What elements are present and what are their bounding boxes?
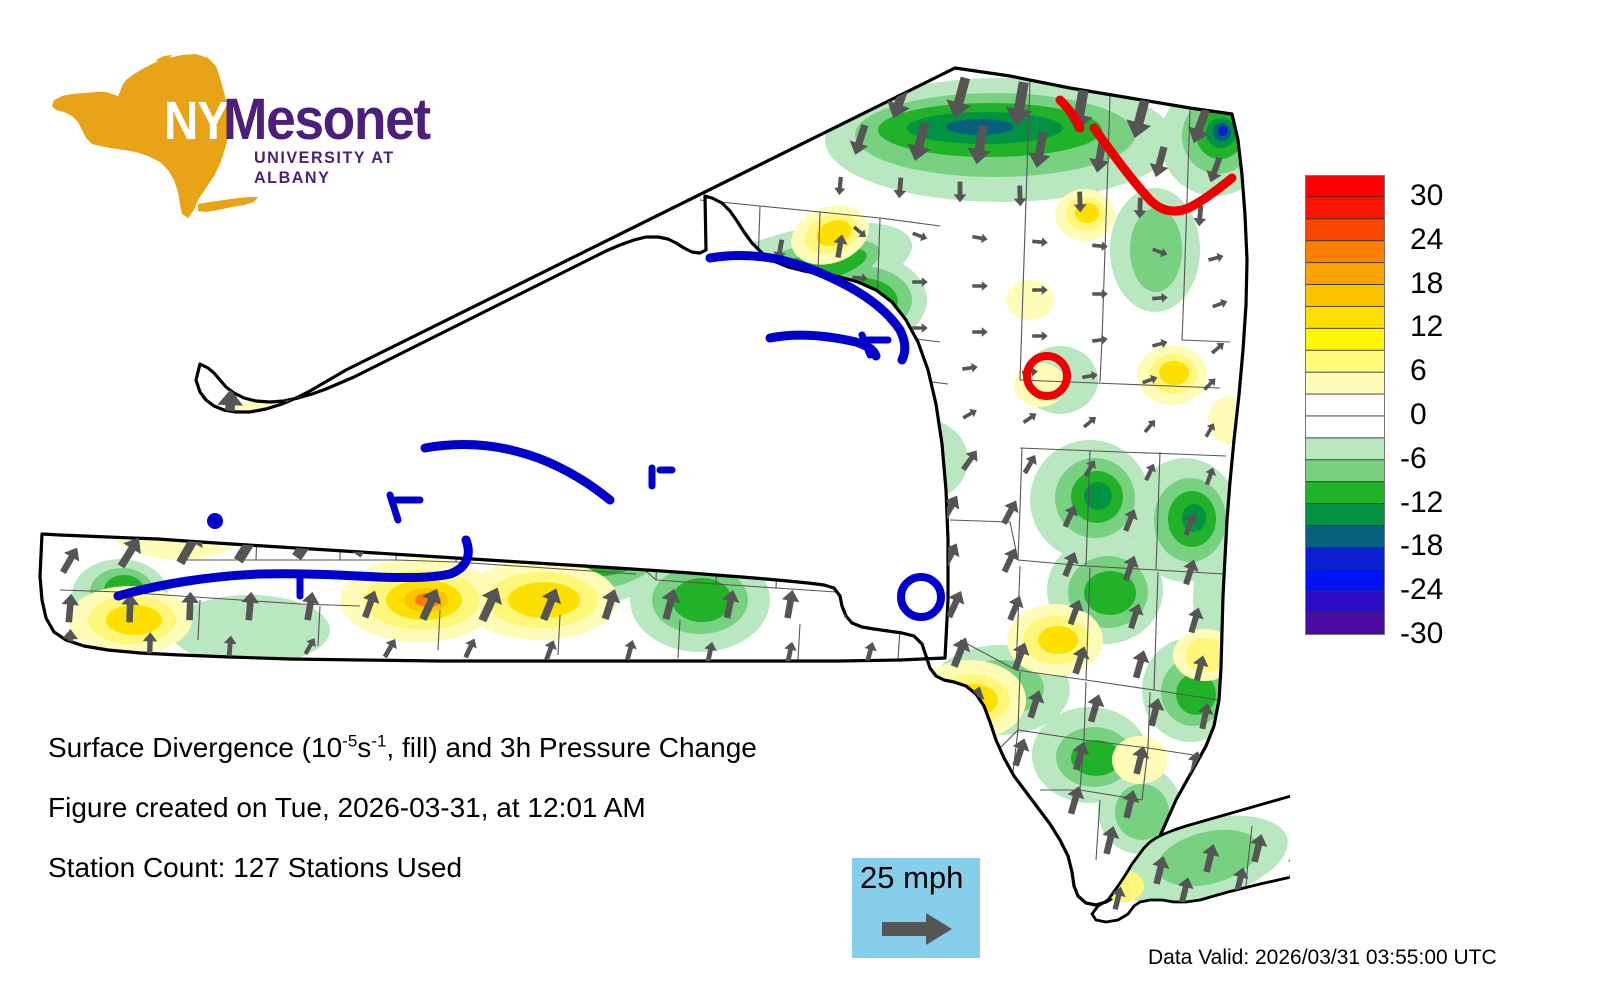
colorbar-band [1305, 394, 1385, 417]
caption-title-mid: s [357, 732, 371, 763]
trough-tick-midnorth [652, 468, 672, 486]
colorbar-tick-label: -18 [1400, 531, 1443, 561]
colorbar-tick-label: 18 [1410, 269, 1443, 299]
colorbar-band [1305, 328, 1385, 351]
colorbar-tick-label: -12 [1400, 488, 1443, 518]
colorbar-band [1305, 569, 1385, 592]
colorbar-band [1305, 613, 1385, 635]
colorbar-tick-label: 12 [1410, 312, 1443, 342]
caption-title-prefix: Surface Divergence (10 [48, 732, 342, 763]
colorbar-tick-label: 6 [1410, 356, 1427, 386]
data-valid-timestamp: Data Valid: 2026/03/31 03:55:00 UTC [1148, 946, 1497, 970]
low-center-dot [207, 513, 223, 529]
colorbar-band [1305, 547, 1385, 570]
colorbar-tick-label: 24 [1410, 225, 1443, 255]
colorbar-band [1305, 482, 1385, 505]
colorbar-band [1305, 241, 1385, 264]
colorbar [1305, 175, 1385, 635]
colorbar-tick-label: -30 [1400, 619, 1443, 649]
colorbar-tick-label: 0 [1410, 400, 1427, 430]
colorbar-band [1305, 219, 1385, 242]
colorbar-band [1305, 591, 1385, 614]
wind-legend-arrow-icon [882, 912, 954, 946]
colorbar-band [1305, 438, 1385, 461]
colorbar-band [1305, 306, 1385, 329]
colorbar-band [1305, 197, 1385, 220]
caption-exp-1: -5 [342, 732, 357, 751]
colorbar-band [1305, 525, 1385, 548]
caption-title-suffix: , fill) and 3h Pressure Change [386, 732, 756, 763]
colorbar-band [1305, 460, 1385, 483]
colorbar-band [1305, 285, 1385, 308]
caption-station-count: Station Count: 127 Stations Used [48, 838, 948, 898]
colorbar-band [1305, 504, 1385, 527]
colorbar-band [1305, 175, 1385, 198]
caption-created: Figure created on Tue, 2026-03-31, at 12… [48, 778, 948, 838]
colorbar-band [1305, 372, 1385, 395]
colorbar-tick-label: -24 [1400, 575, 1443, 605]
trough-barb-west [390, 495, 420, 520]
colorbar-labels: 3024181260-6-12-18-24-30 [1400, 160, 1520, 650]
colorbar-tick-label: -6 [1400, 444, 1427, 474]
colorbar-tick-label: 30 [1410, 181, 1443, 211]
wind-speed-legend: 25 mph [852, 858, 980, 958]
colorbar-band [1305, 263, 1385, 286]
wind-legend-label: 25 mph [860, 860, 963, 896]
colorbar-band [1305, 416, 1385, 439]
caption-block: Surface Divergence (10-5s-1, fill) and 3… [48, 718, 948, 898]
caption-exp-2: -1 [371, 732, 386, 751]
colorbar-band [1305, 350, 1385, 373]
caption-title: Surface Divergence (10-5s-1, fill) and 3… [48, 718, 948, 778]
low-pressure-center-marker [901, 577, 941, 617]
trough-line-central [425, 444, 610, 500]
